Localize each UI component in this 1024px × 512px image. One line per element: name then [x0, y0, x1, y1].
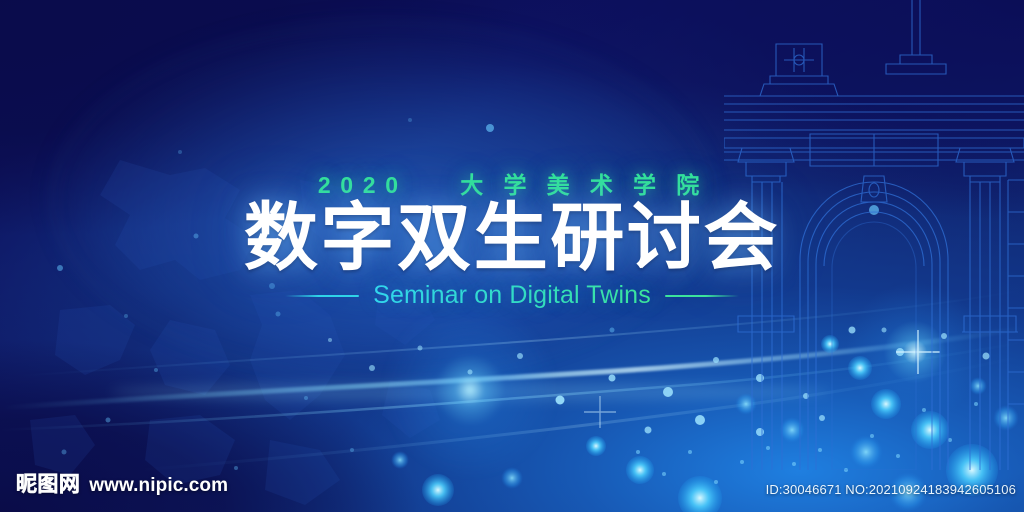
poster-content: 2020 大 学 美 术 学 院 数字双生研讨会 Seminar on Digi… [0, 0, 1024, 512]
kicker-organization: 大 学 美 术 学 院 [460, 172, 706, 198]
kicker-line: 2020 大 学 美 术 学 院 [0, 166, 1024, 200]
subtitle-rule-right [665, 295, 739, 297]
subtitle-row: Seminar on Digital Twins [0, 281, 1024, 310]
asset-id-label: ID:30046671 NO:20210924183942605106 [766, 482, 1016, 497]
watermark-logo: 昵图网 [16, 468, 80, 498]
watermark: 昵图网 www.nipic.com [16, 468, 228, 498]
watermark-url: www.nipic.com [89, 475, 228, 497]
poster-canvas: 2020 大 学 美 术 学 院 数字双生研讨会 Seminar on Digi… [0, 0, 1024, 512]
subtitle: Seminar on Digital Twins [373, 281, 651, 310]
page-title: 数字双生研讨会 [0, 197, 1024, 279]
kicker-year: 2020 [318, 172, 408, 198]
subtitle-rule-left [285, 295, 359, 297]
